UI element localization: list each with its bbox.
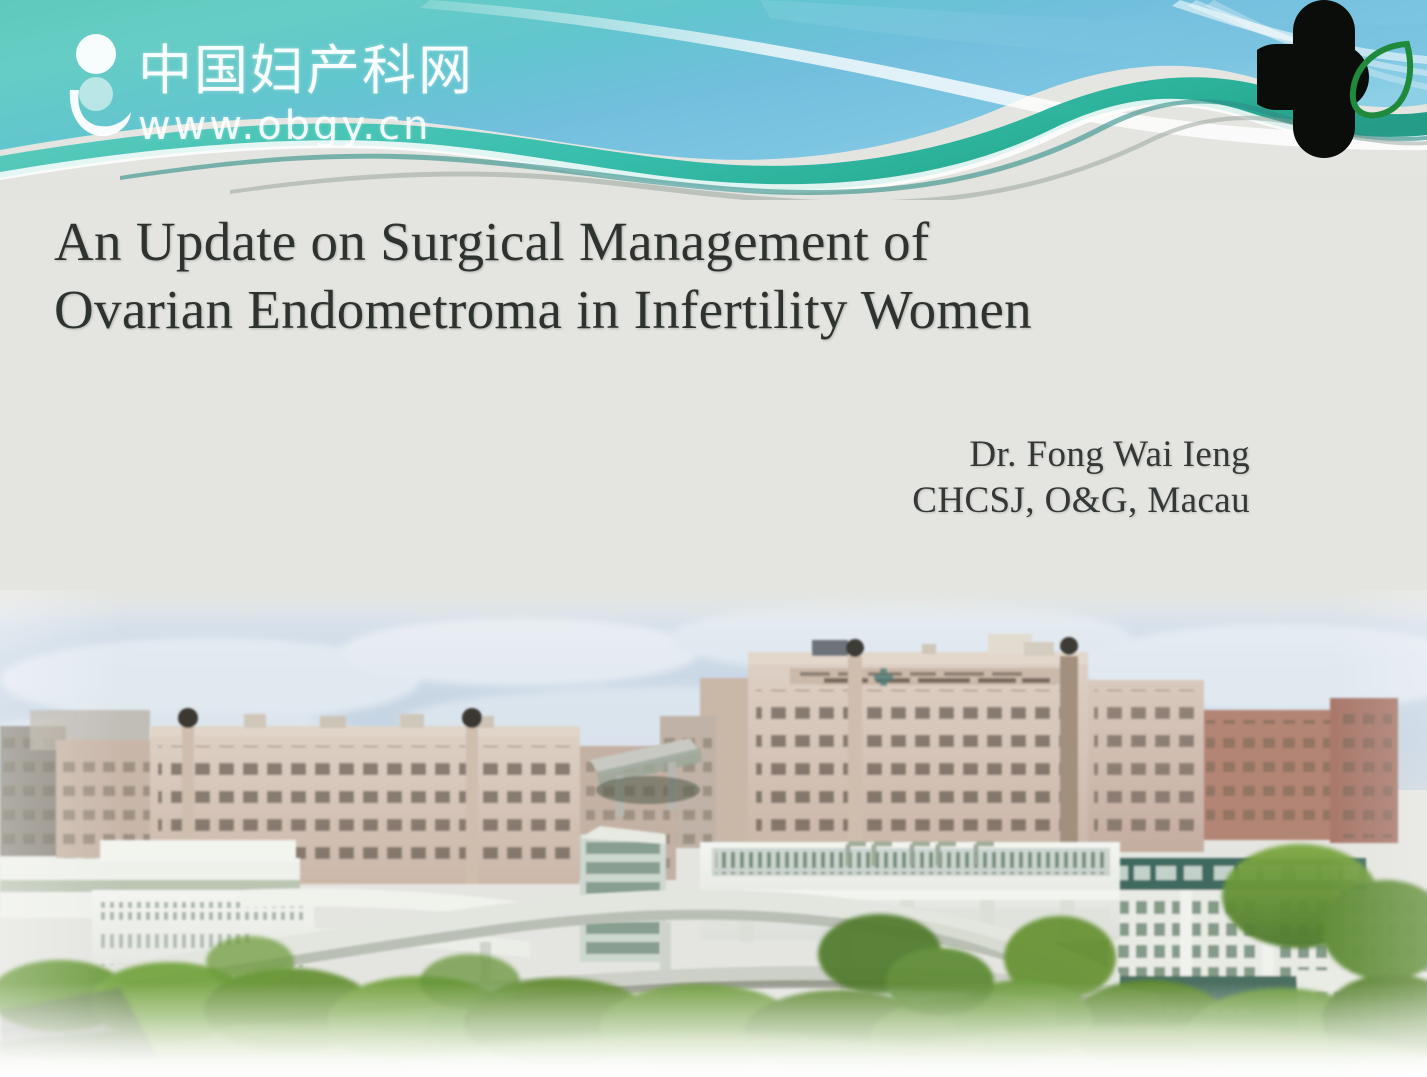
presentation-slide: 中国妇产科网 www.obgy.cn An Update on Surgical… — [0, 0, 1427, 1077]
author-affiliation-line: CHCSJ, O&G, Macau — [0, 478, 1250, 524]
author-name: Dr. Fong Wai Ieng — [0, 432, 1250, 478]
header-ribbon-banner — [0, 0, 1427, 200]
header-ribbon-graphic — [0, 0, 1427, 200]
title-line-1: An Update on Surgical Management of — [54, 208, 1204, 276]
hospital-campus-photo — [0, 590, 1427, 1077]
slide-title: An Update on Surgical Management of Ovar… — [54, 208, 1204, 344]
title-line-2: Ovarian Endometroma in Infertility Women — [54, 276, 1204, 344]
corner-logo — [1257, 0, 1417, 166]
hospital-photo-graphic — [0, 590, 1427, 1077]
medical-cross-icon — [1257, 0, 1369, 158]
author-affiliation: Dr. Fong Wai Ieng CHCSJ, O&G, Macau — [0, 432, 1250, 524]
